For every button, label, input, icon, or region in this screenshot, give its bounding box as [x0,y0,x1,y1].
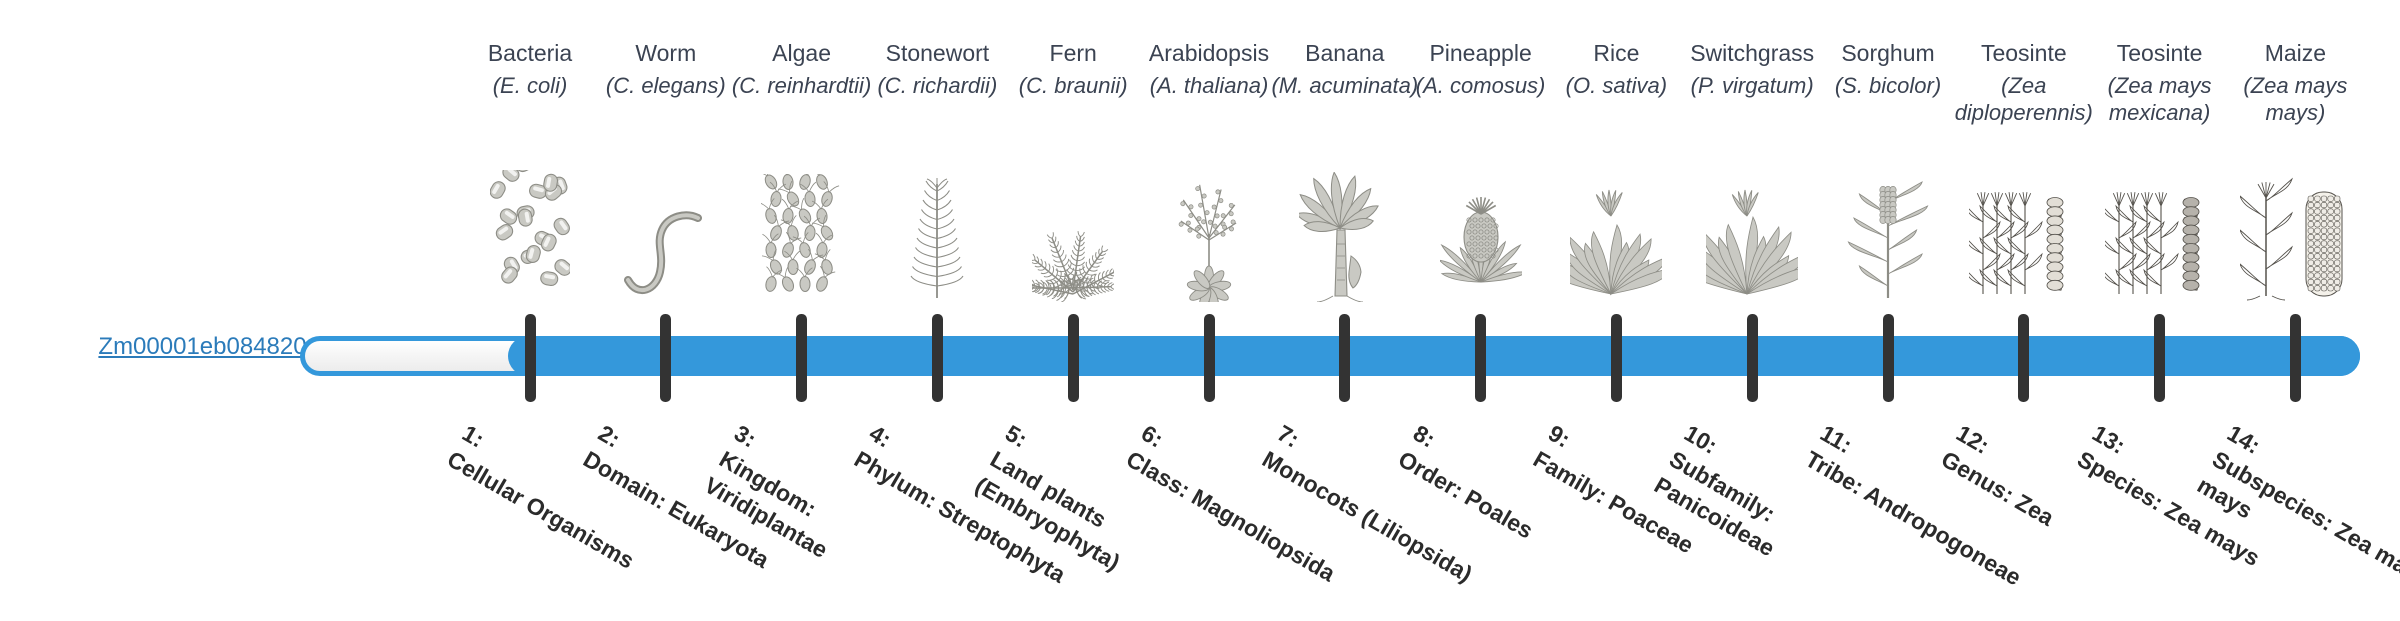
teosinte-diplo-icon [1956,168,2092,302]
maize-icon [2227,168,2363,302]
banana-icon [1277,168,1413,302]
gene-accession-link[interactable]: Zm00001eb084820 [98,333,306,360]
phylostratum-figure: Zm00001eb084820: Phylostratum 3 Bacteria… [0,0,2400,580]
fern-icon [1005,168,1141,302]
sorghum-icon [1820,168,1956,302]
rice-icon [1548,168,1684,302]
species-columns: Bacteria(E. coli)1:Cellular OrganismsWor… [462,0,2330,580]
phylostratum-tick-13[interactable] [2154,314,2165,402]
phylostratum-tick-4[interactable] [932,314,943,402]
phylostratum-tick-8[interactable] [1475,314,1486,402]
phylostratum-tick-14[interactable] [2290,314,2301,402]
phylostratum-tick-2[interactable] [660,314,671,402]
arabidopsis-icon [1141,168,1277,302]
phylostratum-tick-7[interactable] [1339,314,1350,402]
phylostratum-tick-5[interactable] [1068,314,1079,402]
phylostratum-tick-9[interactable] [1611,314,1622,402]
phylostratum-tick-10[interactable] [1747,314,1758,402]
phylostratum-tick-11[interactable] [1883,314,1894,402]
phylostratum-tick-3[interactable] [796,314,807,402]
phylostratum-tick-12[interactable] [2018,314,2029,402]
species-common-name: Maize [2213,40,2377,67]
species-scientific-name: (Zea mays mays) [2213,72,2377,126]
bacteria-icon [462,168,598,302]
switchgrass-icon [1684,168,1820,302]
algae-icon [734,168,870,302]
phylostratum-tick-1[interactable] [525,314,536,402]
pineapple-icon [1413,168,1549,302]
teosinte-mex-icon [2092,168,2228,302]
phylostratum-tick-6[interactable] [1204,314,1215,402]
stonewort-icon [869,168,1005,302]
worm-icon [598,168,734,302]
